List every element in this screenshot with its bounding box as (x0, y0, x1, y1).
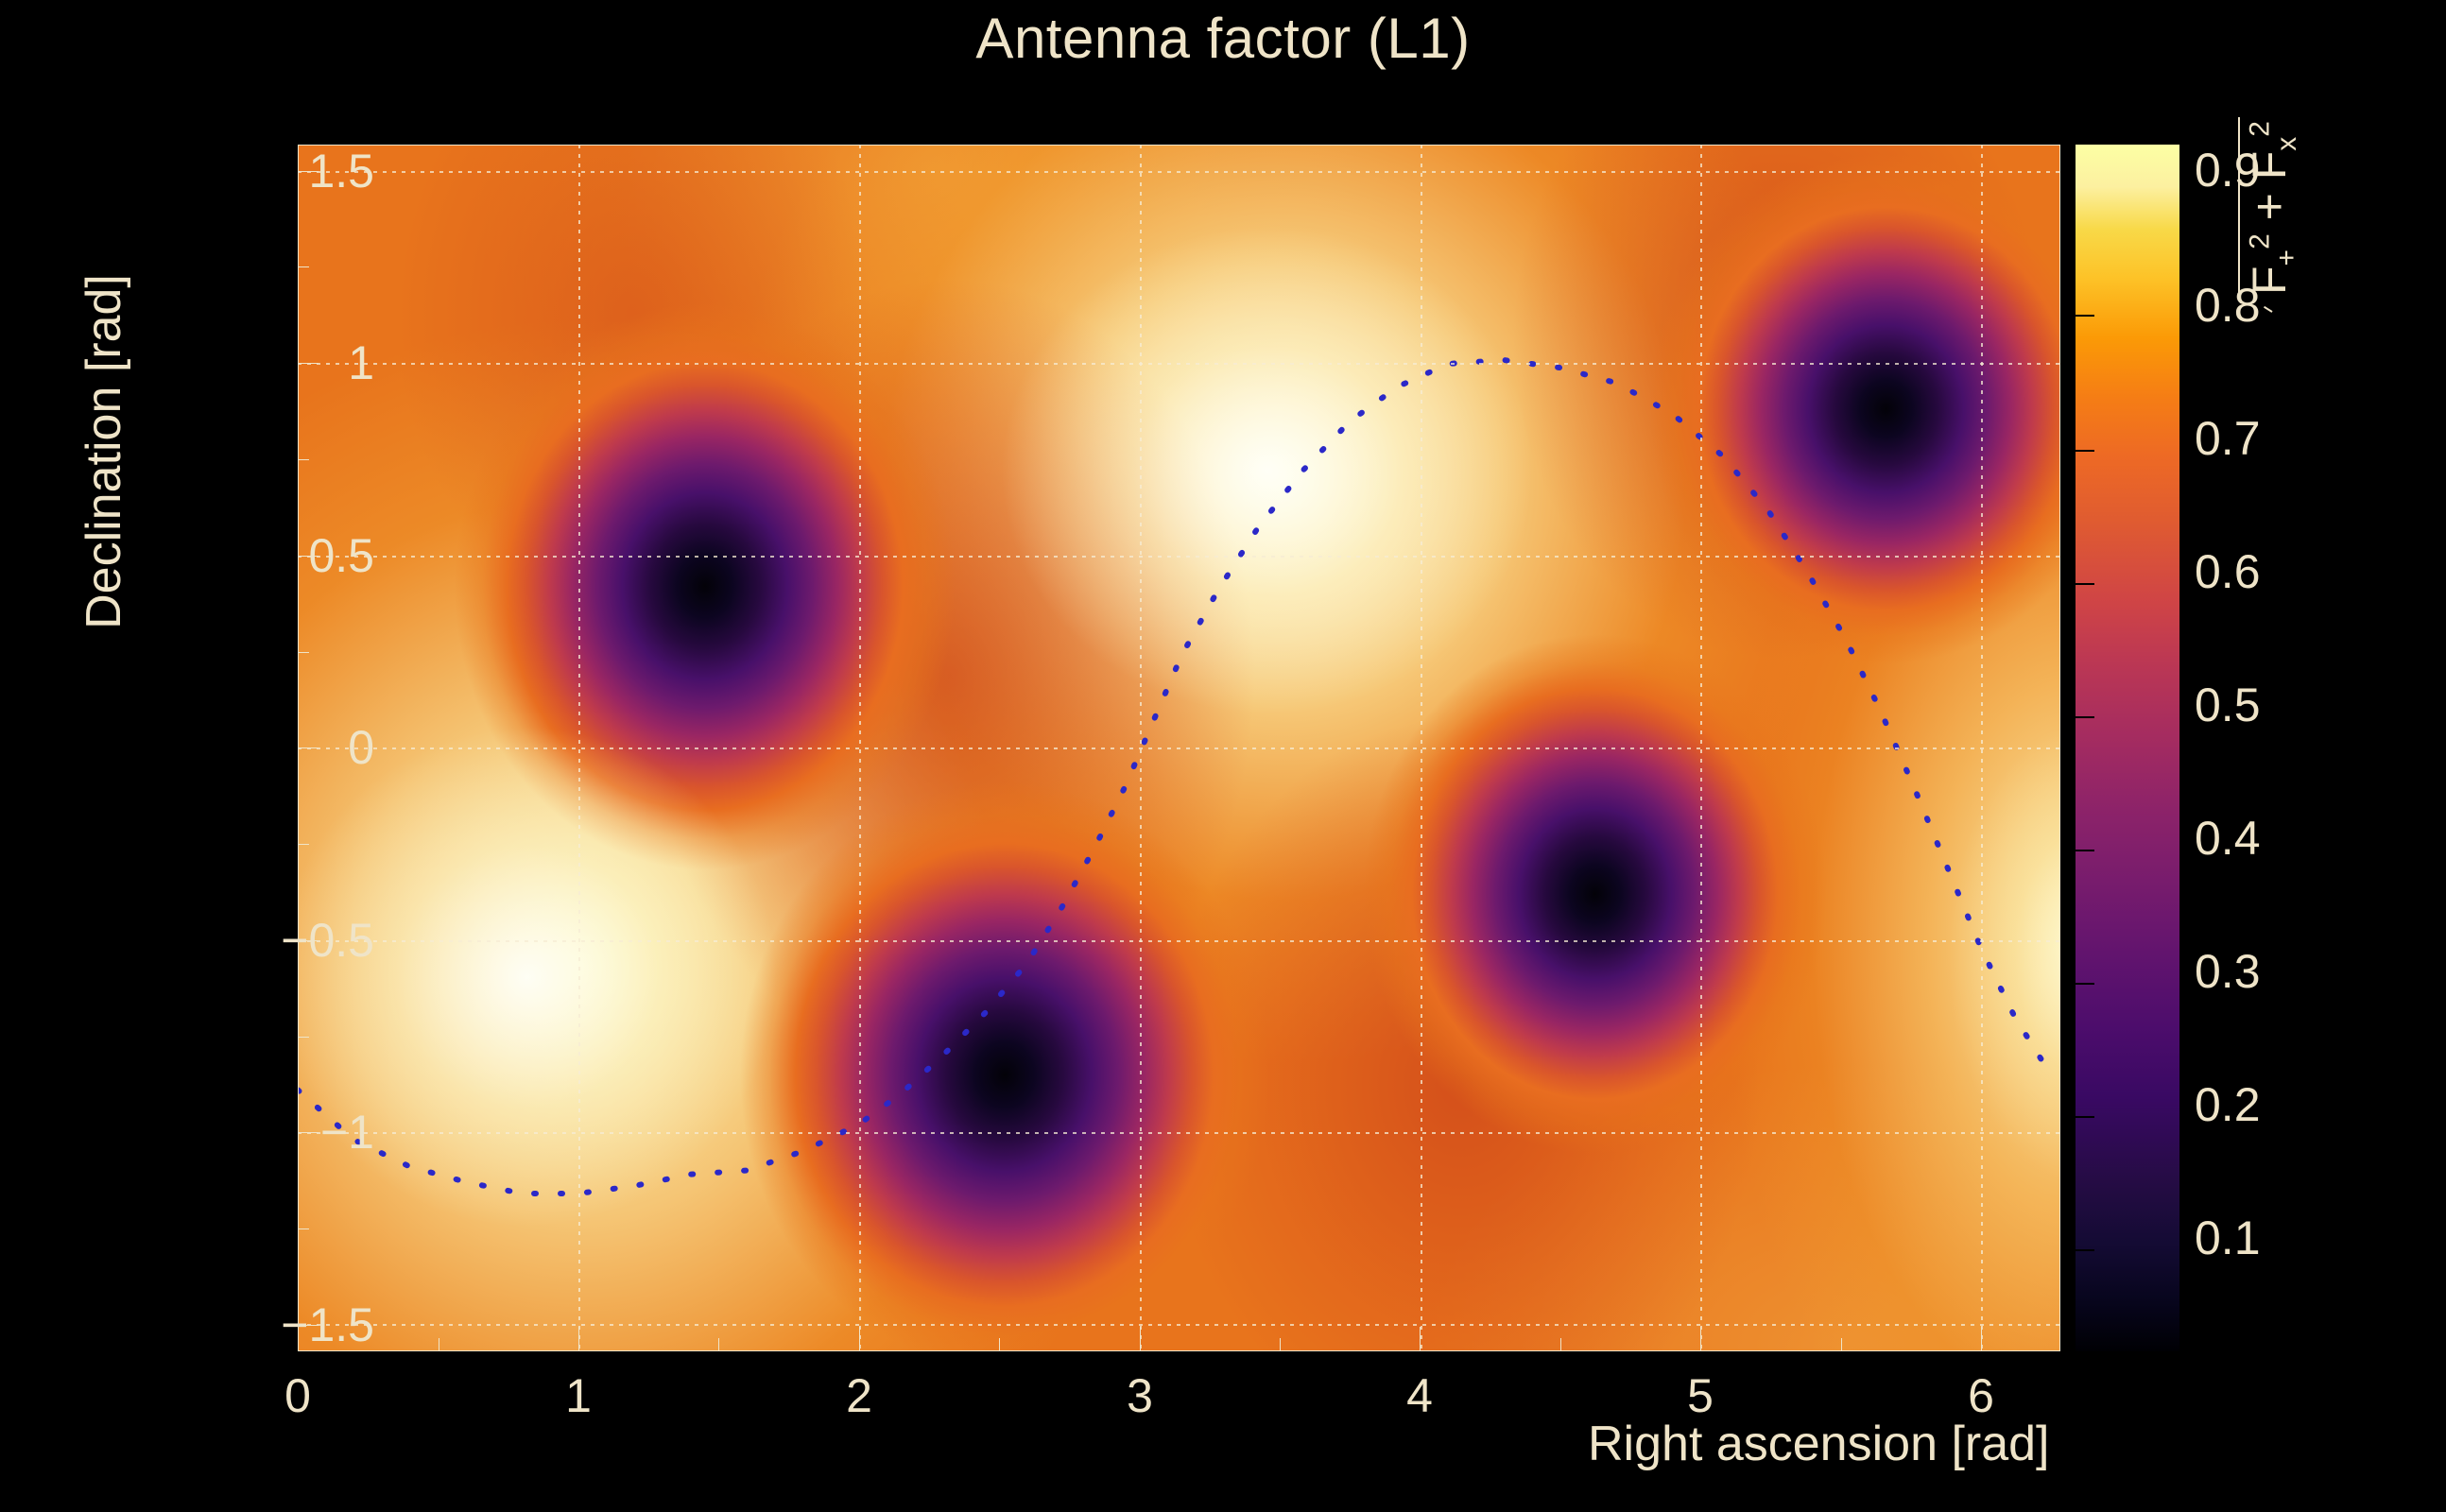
colorbar[interactable] (2076, 145, 2179, 1351)
colorbar-axis-label: F+2 + Fx2 (2238, 117, 2303, 312)
colorbar-label-6: 0.3 (2195, 944, 2261, 999)
y-tick-minor-1 (298, 266, 309, 267)
f-cross-superscript: 2 (2244, 121, 2275, 137)
x-tick-major-2 (859, 1327, 860, 1351)
y-tick-label-4: −0.5 (281, 913, 374, 968)
x-tick-major-4 (1420, 1327, 1421, 1351)
colorbar-tick-3 (2076, 716, 2094, 718)
y-tick-major-4 (298, 747, 319, 748)
colorbar-label-8: 0.1 (2195, 1211, 2261, 1265)
x-tick-major-0 (298, 1327, 299, 1351)
colorbar-label-4: 0.5 (2195, 678, 2261, 732)
y-tick-minor-4 (298, 844, 309, 845)
colorbar-label-2: 0.7 (2195, 411, 2261, 466)
x-tick-minor-1 (439, 1338, 439, 1351)
x-tick-label-4: 4 (1406, 1368, 1433, 1423)
y-tick-minor-6 (298, 1228, 309, 1229)
f-plus-symbol: F (2243, 266, 2296, 295)
x-tick-minor-3 (999, 1338, 1000, 1351)
x-tick-major-5 (1700, 1327, 1701, 1351)
root-canvas: Antenna factor (L1) (0, 0, 2446, 1512)
y-tick-label-3: 0 (348, 720, 374, 775)
x-tick-minor-2 (718, 1338, 719, 1351)
y-tick-label-6: −1.5 (281, 1297, 374, 1352)
y-tick-label-2: 0.5 (308, 528, 374, 583)
f-plus-superscript: 2 (2244, 233, 2275, 249)
horizon-curve (298, 145, 2060, 1351)
y-axis-label: Declination [rad] (76, 187, 132, 716)
colorbar-tick-1 (2076, 450, 2094, 452)
y-tick-minor-2 (298, 459, 309, 460)
colorbar-tick-6 (2076, 1116, 2094, 1118)
colorbar-label-expression: F+2 + Fx2 (2238, 117, 2303, 299)
y-tick-label-1: 1 (348, 335, 374, 390)
sqrt-radical-icon: F+2 + Fx2 (2238, 117, 2303, 312)
x-tick-minor-6 (1841, 1338, 1842, 1351)
heatmap-plot (298, 145, 2060, 1351)
colorbar-label-7: 0.2 (2195, 1077, 2261, 1132)
colorbar-tick-7 (2076, 1249, 2094, 1251)
y-tick-major-6 (298, 1132, 319, 1133)
colorbar-tick-8 (2076, 1383, 2094, 1384)
y-tick-minor-5 (298, 1037, 309, 1038)
colorbar-label-5: 0.4 (2195, 811, 2261, 866)
x-tick-minor-5 (1560, 1338, 1561, 1351)
x-tick-minor-4 (1280, 1338, 1281, 1351)
x-tick-major-3 (1140, 1327, 1141, 1351)
y-tick-label-0: 1.5 (308, 144, 374, 198)
colorbar-label-3: 0.6 (2195, 544, 2261, 599)
plus-operator: + (2243, 180, 2296, 233)
x-tick-label-2: 2 (846, 1368, 872, 1423)
f-plus-subscript: + (2271, 249, 2302, 266)
colorbar-tick-5 (2076, 983, 2094, 985)
y-tick-label-5: −1 (320, 1105, 374, 1160)
x-tick-label-1: 1 (565, 1368, 592, 1423)
f-cross-subscript: x (2271, 137, 2302, 151)
x-axis-label: Right ascension [rad] (1588, 1416, 2050, 1472)
f-cross-symbol: F (2243, 151, 2296, 180)
page-title: Antenna factor (L1) (0, 6, 2446, 71)
colorbar-tick-4 (2076, 850, 2094, 851)
x-tick-label-0: 0 (284, 1368, 311, 1423)
y-tick-major-2 (298, 363, 319, 364)
x-tick-major-6 (1981, 1327, 1982, 1351)
x-tick-major-1 (578, 1327, 579, 1351)
colorbar-gradient (2076, 145, 2179, 1351)
colorbar-tick-2 (2076, 583, 2094, 585)
x-tick-label-3: 3 (1127, 1368, 1153, 1423)
y-tick-minor-3 (298, 652, 309, 653)
colorbar-tick-0 (2076, 315, 2094, 317)
horizon-polyline (298, 360, 2048, 1194)
